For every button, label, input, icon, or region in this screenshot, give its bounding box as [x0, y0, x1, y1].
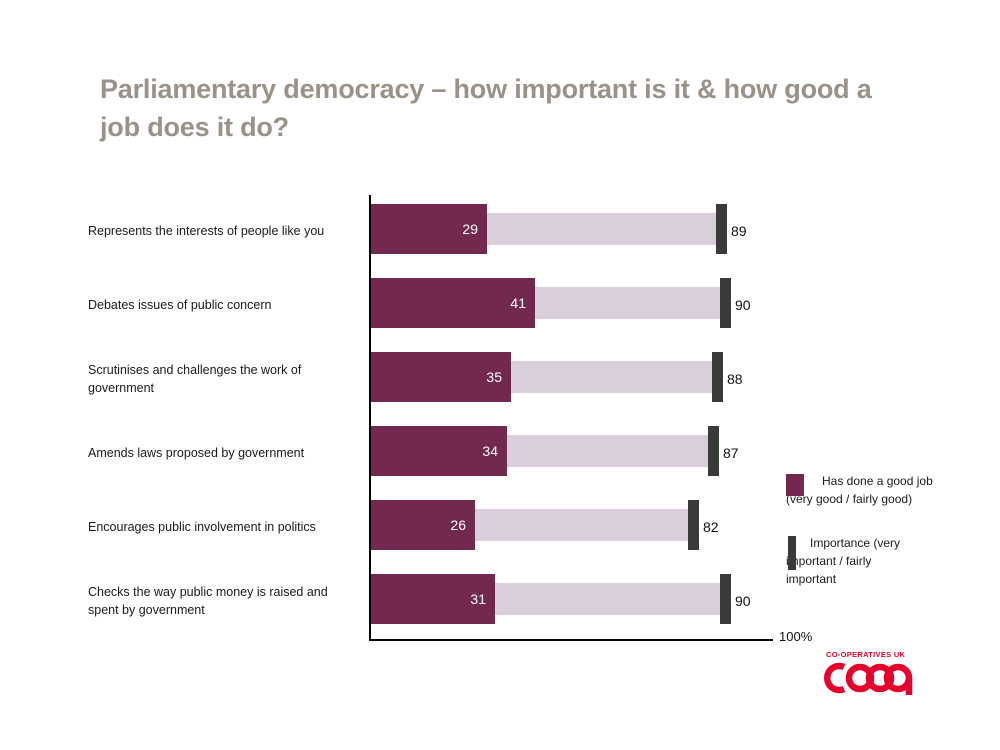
- good-job-value: 31: [470, 591, 486, 607]
- importance-value: 87: [723, 445, 739, 461]
- chart-row: Scrutinises and challenges the work of g…: [0, 343, 1000, 415]
- chart-row: Debates issues of public concern4190: [0, 269, 1000, 341]
- importance-marker[interactable]: [708, 426, 719, 476]
- row-bars: 3487: [371, 417, 771, 489]
- coop-logo: CO-OPERATIVES UK: [822, 650, 922, 696]
- legend-label-good-job: Has done a good job (very good / fairly …: [786, 474, 933, 506]
- chart-row: Represents the interests of people like …: [0, 195, 1000, 267]
- importance-marker[interactable]: [720, 574, 731, 624]
- row-bars: 2989: [371, 195, 771, 267]
- row-bars: 2682: [371, 491, 771, 563]
- good-job-value: 26: [450, 517, 466, 533]
- x-axis-line: [369, 639, 773, 641]
- importance-marker[interactable]: [720, 278, 731, 328]
- good-job-bar[interactable]: 29: [371, 204, 487, 254]
- importance-value: 89: [731, 223, 747, 239]
- good-job-bar[interactable]: 26: [371, 500, 475, 550]
- good-job-value: 34: [482, 443, 498, 459]
- good-job-bar[interactable]: 35: [371, 352, 511, 402]
- importance-value: 90: [735, 297, 751, 313]
- good-job-value: 35: [486, 369, 502, 385]
- legend: Has done a good job (very good / fairly …: [786, 472, 996, 614]
- row-bars: 4190: [371, 269, 771, 341]
- importance-marker[interactable]: [712, 352, 723, 402]
- category-label: Scrutinises and challenges the work of g…: [88, 361, 356, 397]
- legend-swatch-good-job-icon: [786, 474, 804, 496]
- legend-label-importance: Importance (very important / fairly impo…: [786, 536, 900, 586]
- category-label: Debates issues of public concern: [88, 296, 356, 314]
- coop-wordmark-icon: [822, 660, 918, 696]
- chart-area: 100% Represents the interests of people …: [0, 0, 1000, 750]
- row-bars: 3190: [371, 565, 771, 637]
- good-job-value: 29: [462, 221, 478, 237]
- category-label: Encourages public involvement in politic…: [88, 518, 356, 536]
- legend-swatch-importance-icon: [788, 536, 796, 570]
- importance-value: 90: [735, 593, 751, 609]
- importance-marker[interactable]: [688, 500, 699, 550]
- good-job-bar[interactable]: 34: [371, 426, 507, 476]
- logo-top-text: CO-OPERATIVES UK: [826, 650, 922, 659]
- importance-value: 88: [727, 371, 743, 387]
- row-bars: 3588: [371, 343, 771, 415]
- legend-item-importance: Importance (very important / fairly impo…: [786, 534, 996, 588]
- category-label: Amends laws proposed by government: [88, 444, 356, 462]
- category-label: Represents the interests of people like …: [88, 222, 356, 240]
- good-job-bar[interactable]: 31: [371, 574, 495, 624]
- legend-item-good-job: Has done a good job (very good / fairly …: [786, 472, 996, 508]
- importance-marker[interactable]: [716, 204, 727, 254]
- category-label: Checks the way public money is raised an…: [88, 583, 356, 619]
- good-job-bar[interactable]: 41: [371, 278, 535, 328]
- good-job-value: 41: [510, 295, 526, 311]
- importance-value: 82: [703, 519, 719, 535]
